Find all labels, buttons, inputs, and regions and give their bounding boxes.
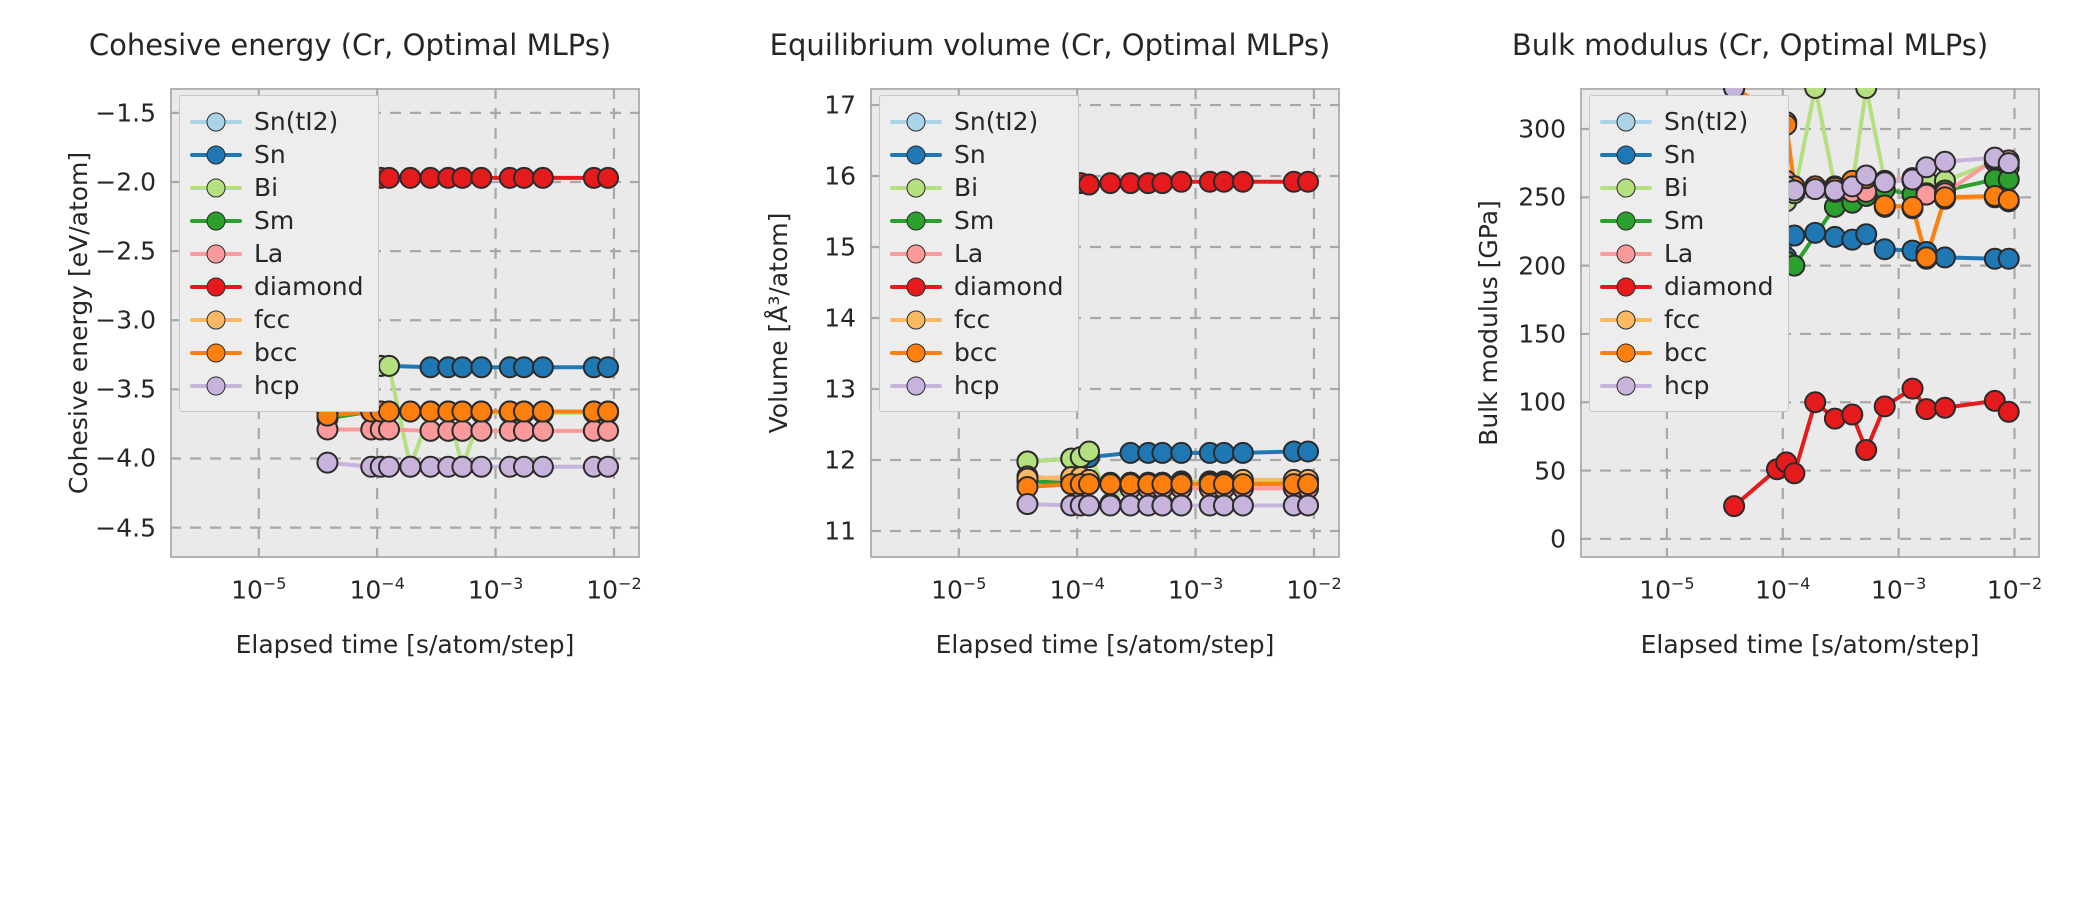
y-tick-label: −3.5 bbox=[95, 375, 156, 404]
data-point bbox=[452, 421, 472, 441]
legend-item-diamond[interactable]: diamond bbox=[190, 270, 364, 303]
data-point bbox=[1298, 172, 1318, 192]
data-point bbox=[1999, 249, 2019, 269]
legend-marker-dot bbox=[1617, 277, 1636, 296]
legend-line-swatch bbox=[1600, 351, 1652, 355]
legend-line-swatch bbox=[890, 318, 942, 322]
x-axis-label: Elapsed time [s/atom/step] bbox=[870, 630, 1340, 659]
data-point bbox=[400, 168, 420, 188]
legend-line-swatch bbox=[890, 186, 942, 190]
legend-item-bcc[interactable]: bcc bbox=[190, 336, 364, 369]
data-point bbox=[1079, 495, 1099, 515]
y-tick-label: 17 bbox=[824, 91, 856, 120]
legend-marker-dot bbox=[207, 376, 226, 395]
data-point bbox=[1935, 247, 1955, 267]
x-tick-base: 10 bbox=[931, 575, 963, 604]
x-tick-base: 10 bbox=[1286, 575, 1318, 604]
legend-marker-dot bbox=[907, 343, 926, 362]
legend-item-diamond[interactable]: diamond bbox=[1600, 270, 1774, 303]
data-point bbox=[379, 401, 399, 421]
legend-marker-dot bbox=[907, 310, 926, 329]
x-tick-exponent: −4 bbox=[1081, 574, 1105, 593]
data-point bbox=[1724, 496, 1744, 516]
data-point bbox=[1805, 78, 1825, 98]
data-point bbox=[471, 421, 491, 441]
chart-panel-3: Bulk modulus (Cr, Optimal MLPs)050100150… bbox=[1400, 0, 2100, 900]
legend-label: bcc bbox=[954, 340, 997, 365]
data-point bbox=[514, 401, 534, 421]
legend-label: Sn(tI2) bbox=[254, 109, 338, 134]
legend-line-swatch bbox=[190, 351, 242, 355]
data-point bbox=[1999, 153, 2019, 173]
data-point bbox=[533, 168, 553, 188]
legend-marker-dot bbox=[907, 211, 926, 230]
legend-label: hcp bbox=[954, 373, 999, 398]
y-tick-label: 11 bbox=[824, 517, 856, 546]
data-point bbox=[452, 357, 472, 377]
y-axis-label: Bulk modulus [GPa] bbox=[1474, 200, 1503, 446]
data-point bbox=[317, 453, 337, 473]
data-point bbox=[1298, 474, 1318, 494]
x-tick-label: 10−5 bbox=[231, 574, 286, 604]
legend-label: hcp bbox=[254, 373, 299, 398]
x-axis-label: Elapsed time [s/atom/step] bbox=[170, 630, 640, 659]
x-tick-label: 10−3 bbox=[1168, 574, 1223, 604]
data-point bbox=[1298, 442, 1318, 462]
x-tick-base: 10 bbox=[1168, 575, 1200, 604]
chart-panel-2: Equilibrium volume (Cr, Optimal MLPs)111… bbox=[700, 0, 1400, 900]
legend-marker-dot bbox=[207, 112, 226, 131]
data-point bbox=[400, 457, 420, 477]
legend-line-swatch bbox=[1600, 153, 1652, 157]
x-tick-label: 10−4 bbox=[1049, 574, 1104, 604]
legend-marker-dot bbox=[207, 277, 226, 296]
legend-line-swatch bbox=[190, 219, 242, 223]
data-point bbox=[1875, 172, 1895, 192]
legend-item-Sn[interactable]: Sn bbox=[890, 138, 1064, 171]
legend-line-swatch bbox=[190, 285, 242, 289]
data-point bbox=[1903, 197, 1923, 217]
data-point bbox=[1916, 399, 1936, 419]
data-point bbox=[1079, 442, 1099, 462]
legend-marker-dot bbox=[907, 145, 926, 164]
data-point bbox=[1214, 172, 1234, 192]
x-tick-base: 10 bbox=[1987, 575, 2019, 604]
data-point bbox=[514, 457, 534, 477]
legend-item-La[interactable]: La bbox=[1600, 237, 1774, 270]
legend-item-Bi[interactable]: Bi bbox=[1600, 171, 1774, 204]
legend[interactable]: Sn(tI2)SnBiSmLadiamondfccbcchcp bbox=[879, 95, 1079, 412]
legend-item-Sm[interactable]: Sm bbox=[1600, 204, 1774, 237]
legend-label: fcc bbox=[1664, 307, 1700, 332]
data-point bbox=[1100, 495, 1120, 515]
data-point bbox=[1935, 152, 1955, 172]
y-tick-label: 14 bbox=[824, 304, 856, 333]
legend-line-swatch bbox=[890, 120, 942, 124]
x-tick-exponent: −3 bbox=[1903, 574, 1927, 593]
data-point bbox=[1100, 173, 1120, 193]
y-tick-label: −2.0 bbox=[95, 168, 156, 197]
x-tick-label: 10−2 bbox=[1987, 574, 2042, 604]
data-point bbox=[379, 457, 399, 477]
legend-label: Sm bbox=[954, 208, 994, 233]
chart-panel-1: Cohesive energy (Cr, Optimal MLPs)−1.5−2… bbox=[0, 0, 700, 900]
legend-item-Sn(tI2)[interactable]: Sn(tI2) bbox=[1600, 105, 1774, 138]
legend-item-Sn(tI2)[interactable]: Sn(tI2) bbox=[890, 105, 1064, 138]
legend-label: diamond bbox=[1664, 274, 1774, 299]
data-point bbox=[514, 357, 534, 377]
legend-line-swatch bbox=[190, 252, 242, 256]
x-tick-exponent: −5 bbox=[963, 574, 987, 593]
data-point bbox=[400, 401, 420, 421]
data-point bbox=[1233, 495, 1253, 515]
y-tick-label: 100 bbox=[1518, 388, 1566, 417]
x-tick-base: 10 bbox=[349, 575, 381, 604]
legend-label: Bi bbox=[254, 175, 278, 200]
legend-label: bcc bbox=[1664, 340, 1707, 365]
legend-item-hcp[interactable]: hcp bbox=[190, 369, 364, 402]
legend-marker-dot bbox=[1617, 310, 1636, 329]
legend-label: diamond bbox=[254, 274, 364, 299]
data-point bbox=[1233, 443, 1253, 463]
data-point bbox=[514, 168, 534, 188]
legend-item-diamond[interactable]: diamond bbox=[890, 270, 1064, 303]
legend-label: Sn(tI2) bbox=[1664, 109, 1748, 134]
legend-label: Sm bbox=[254, 208, 294, 233]
y-tick-label: 300 bbox=[1518, 114, 1566, 143]
y-tick-label: 150 bbox=[1518, 319, 1566, 348]
data-point bbox=[533, 457, 553, 477]
data-point bbox=[471, 168, 491, 188]
data-point bbox=[1805, 179, 1825, 199]
y-tick-label: 0 bbox=[1550, 524, 1566, 553]
data-point bbox=[1214, 495, 1234, 515]
legend-line-swatch bbox=[190, 120, 242, 124]
data-point bbox=[1214, 443, 1234, 463]
data-point bbox=[471, 457, 491, 477]
data-point bbox=[1171, 495, 1191, 515]
legend[interactable]: Sn(tI2)SnBiSmLadiamondfccbcchcp bbox=[179, 95, 379, 412]
data-point bbox=[471, 401, 491, 421]
legend-item-Bi[interactable]: Bi bbox=[190, 171, 364, 204]
data-point bbox=[1079, 175, 1099, 195]
y-tick-label: −2.5 bbox=[95, 237, 156, 266]
legend-marker-dot bbox=[907, 277, 926, 296]
data-point bbox=[1233, 172, 1253, 192]
x-tick-label: 10−5 bbox=[931, 574, 986, 604]
x-tick-label: 10−5 bbox=[1639, 574, 1694, 604]
legend-marker-dot bbox=[207, 244, 226, 263]
x-tick-base: 10 bbox=[1049, 575, 1081, 604]
legend-line-swatch bbox=[1600, 120, 1652, 124]
y-tick-label: 13 bbox=[824, 375, 856, 404]
data-point bbox=[452, 457, 472, 477]
legend-line-swatch bbox=[1600, 285, 1652, 289]
legend-marker-dot bbox=[207, 178, 226, 197]
data-point bbox=[1999, 402, 2019, 422]
x-tick-label: 10−4 bbox=[349, 574, 404, 604]
legend-line-swatch bbox=[190, 384, 242, 388]
data-point bbox=[1100, 474, 1120, 494]
legend-item-fcc[interactable]: fcc bbox=[190, 303, 364, 336]
data-point bbox=[1233, 474, 1253, 494]
x-tick-exponent: −2 bbox=[618, 574, 642, 593]
legend-marker-dot bbox=[907, 178, 926, 197]
data-point bbox=[1214, 474, 1234, 494]
legend-label: hcp bbox=[1664, 373, 1709, 398]
legend-marker-dot bbox=[1617, 145, 1636, 164]
data-point bbox=[1171, 474, 1191, 494]
x-tick-label: 10−2 bbox=[586, 574, 641, 604]
data-point bbox=[1079, 474, 1099, 494]
data-point bbox=[379, 356, 399, 376]
x-axis-label: Elapsed time [s/atom/step] bbox=[1580, 630, 2040, 659]
data-point bbox=[514, 421, 534, 441]
legend-item-bcc[interactable]: bcc bbox=[1600, 336, 1774, 369]
x-tick-base: 10 bbox=[1871, 575, 1903, 604]
data-point bbox=[1856, 165, 1876, 185]
legend-marker-dot bbox=[1617, 211, 1636, 230]
data-point bbox=[1152, 474, 1172, 494]
legend-label: diamond bbox=[954, 274, 1064, 299]
legend-marker-dot bbox=[207, 211, 226, 230]
data-point bbox=[1171, 172, 1191, 192]
x-tick-exponent: −2 bbox=[2019, 574, 2043, 593]
legend-marker-dot bbox=[1617, 112, 1636, 131]
legend-item-La[interactable]: La bbox=[190, 237, 364, 270]
data-point bbox=[1856, 224, 1876, 244]
y-axis-label: Cohesive energy [eV/atom] bbox=[64, 152, 93, 494]
legend[interactable]: Sn(tI2)SnBiSmLadiamondfccbcchcp bbox=[1589, 95, 1789, 412]
legend-item-Sn[interactable]: Sn bbox=[190, 138, 364, 171]
legend-label: Bi bbox=[1664, 175, 1688, 200]
data-point bbox=[471, 357, 491, 377]
legend-line-swatch bbox=[890, 252, 942, 256]
legend-label: La bbox=[254, 241, 283, 266]
legend-item-fcc[interactable]: fcc bbox=[1600, 303, 1774, 336]
data-point bbox=[1856, 440, 1876, 460]
data-point bbox=[598, 357, 618, 377]
data-point bbox=[1856, 78, 1876, 98]
legend-line-swatch bbox=[1600, 318, 1652, 322]
x-tick-exponent: −2 bbox=[1318, 574, 1342, 593]
x-tick-base: 10 bbox=[231, 575, 263, 604]
legend-line-swatch bbox=[190, 186, 242, 190]
data-point bbox=[1784, 463, 1804, 483]
x-tick-base: 10 bbox=[586, 575, 618, 604]
legend-line-swatch bbox=[890, 285, 942, 289]
legend-item-fcc[interactable]: fcc bbox=[890, 303, 1064, 336]
legend-line-swatch bbox=[1600, 186, 1652, 190]
legend-item-hcp[interactable]: hcp bbox=[890, 369, 1064, 402]
figure-root: Cohesive energy (Cr, Optimal MLPs)−1.5−2… bbox=[0, 0, 2100, 900]
legend-label: Sn bbox=[954, 142, 986, 167]
legend-line-swatch bbox=[190, 153, 242, 157]
y-tick-label: 50 bbox=[1534, 456, 1566, 485]
legend-line-swatch bbox=[890, 153, 942, 157]
data-point bbox=[452, 401, 472, 421]
data-point bbox=[1903, 379, 1923, 399]
x-tick-label: 10−3 bbox=[468, 574, 523, 604]
legend-label: Bi bbox=[954, 175, 978, 200]
data-point bbox=[533, 421, 553, 441]
data-point bbox=[1935, 398, 1955, 418]
data-point bbox=[452, 168, 472, 188]
data-point bbox=[1152, 495, 1172, 515]
legend-label: fcc bbox=[254, 307, 290, 332]
x-tick-label: 10−3 bbox=[1871, 574, 1926, 604]
legend-marker-dot bbox=[207, 310, 226, 329]
legend-label: Sn(tI2) bbox=[954, 109, 1038, 134]
data-point bbox=[1875, 396, 1895, 416]
data-point bbox=[1805, 392, 1825, 412]
x-tick-exponent: −3 bbox=[500, 574, 524, 593]
legend-line-swatch bbox=[890, 351, 942, 355]
data-point bbox=[1298, 495, 1318, 515]
data-point bbox=[1017, 494, 1037, 514]
legend-item-Sn[interactable]: Sn bbox=[1600, 138, 1774, 171]
legend-marker-dot bbox=[1617, 244, 1636, 263]
data-point bbox=[1805, 223, 1825, 243]
legend-line-swatch bbox=[190, 318, 242, 322]
legend-label: Sn bbox=[254, 142, 286, 167]
data-point bbox=[598, 168, 618, 188]
data-point bbox=[1999, 190, 2019, 210]
y-tick-label: −4.0 bbox=[95, 444, 156, 473]
data-point bbox=[598, 457, 618, 477]
data-point bbox=[1171, 443, 1191, 463]
data-point bbox=[1875, 239, 1895, 259]
y-tick-label: 200 bbox=[1518, 251, 1566, 280]
data-point bbox=[1152, 443, 1172, 463]
x-tick-exponent: −4 bbox=[381, 574, 405, 593]
legend-marker-dot bbox=[1617, 376, 1636, 395]
x-tick-base: 10 bbox=[1639, 575, 1671, 604]
y-tick-label: −4.5 bbox=[95, 513, 156, 542]
x-tick-label: 10−4 bbox=[1755, 574, 1810, 604]
y-tick-label: 15 bbox=[824, 233, 856, 262]
data-point bbox=[1842, 405, 1862, 425]
legend-marker-dot bbox=[907, 244, 926, 263]
y-axis-label: Volume [Å³/atom] bbox=[764, 213, 793, 434]
legend-marker-dot bbox=[1617, 178, 1636, 197]
data-point bbox=[598, 401, 618, 421]
data-point bbox=[598, 421, 618, 441]
data-point bbox=[1875, 196, 1895, 216]
legend-item-Bi[interactable]: Bi bbox=[890, 171, 1064, 204]
legend-item-Sm[interactable]: Sm bbox=[890, 204, 1064, 237]
x-tick-base: 10 bbox=[468, 575, 500, 604]
legend-marker-dot bbox=[907, 112, 926, 131]
data-point bbox=[379, 168, 399, 188]
legend-label: fcc bbox=[954, 307, 990, 332]
data-point bbox=[1152, 173, 1172, 193]
x-tick-exponent: −3 bbox=[1200, 574, 1224, 593]
legend-label: La bbox=[1664, 241, 1693, 266]
legend-item-hcp[interactable]: hcp bbox=[1600, 369, 1774, 402]
legend-marker-dot bbox=[907, 376, 926, 395]
legend-line-swatch bbox=[1600, 252, 1652, 256]
y-tick-label: 250 bbox=[1518, 183, 1566, 212]
x-tick-exponent: −5 bbox=[1671, 574, 1695, 593]
legend-marker-dot bbox=[1617, 343, 1636, 362]
legend-marker-dot bbox=[207, 343, 226, 362]
legend-item-bcc[interactable]: bcc bbox=[890, 336, 1064, 369]
legend-marker-dot bbox=[207, 145, 226, 164]
legend-label: Sm bbox=[1664, 208, 1704, 233]
data-point bbox=[1935, 187, 1955, 207]
y-tick-label: −3.0 bbox=[95, 306, 156, 335]
y-tick-label: 16 bbox=[824, 162, 856, 191]
legend-line-swatch bbox=[1600, 219, 1652, 223]
legend-label: Sn bbox=[1664, 142, 1696, 167]
legend-label: La bbox=[954, 241, 983, 266]
legend-item-La[interactable]: La bbox=[890, 237, 1064, 270]
data-point bbox=[1916, 247, 1936, 267]
legend-line-swatch bbox=[890, 219, 942, 223]
data-point bbox=[1916, 157, 1936, 177]
x-tick-exponent: −4 bbox=[1787, 574, 1811, 593]
data-point bbox=[533, 401, 553, 421]
legend-item-Sm[interactable]: Sm bbox=[190, 204, 364, 237]
x-tick-exponent: −5 bbox=[263, 574, 287, 593]
legend-label: bcc bbox=[254, 340, 297, 365]
legend-line-swatch bbox=[890, 384, 942, 388]
legend-item-Sn(tI2)[interactable]: Sn(tI2) bbox=[190, 105, 364, 138]
y-tick-label: −1.5 bbox=[95, 98, 156, 127]
legend-line-swatch bbox=[1600, 384, 1652, 388]
x-tick-base: 10 bbox=[1755, 575, 1787, 604]
x-tick-label: 10−2 bbox=[1286, 574, 1341, 604]
data-point bbox=[533, 357, 553, 377]
y-tick-label: 12 bbox=[824, 446, 856, 475]
